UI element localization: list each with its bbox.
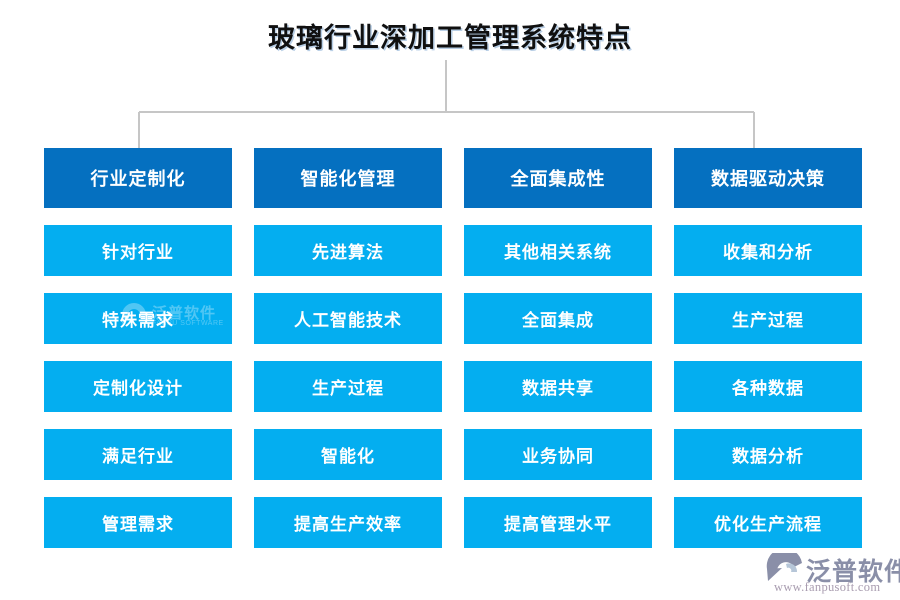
column-header-1[interactable]: 行业定制化 (44, 148, 232, 208)
column-header-3[interactable]: 全面集成性 (464, 148, 652, 208)
feature-item[interactable]: 特殊需求 (44, 293, 232, 344)
column-header-4[interactable]: 数据驱动决策 (674, 148, 862, 208)
feature-item[interactable]: 全面集成 (464, 293, 652, 344)
feature-column-2: 智能化管理 先进算法 人工智能技术 生产过程 智能化 提高生产效率 (254, 148, 442, 548)
feature-item[interactable]: 提高生产效率 (254, 497, 442, 548)
feature-item[interactable]: 生产过程 (674, 293, 862, 344)
feature-item[interactable]: 针对行业 (44, 225, 232, 276)
logo-url: www.fanpusoft.com (774, 580, 880, 595)
brand-logo: 泛普软件 www.fanpusoft.com (762, 552, 898, 596)
column-header-2[interactable]: 智能化管理 (254, 148, 442, 208)
feature-item[interactable]: 提高管理水平 (464, 497, 652, 548)
feature-grid: 行业定制化 针对行业 特殊需求 定制化设计 满足行业 管理需求 智能化管理 先进… (44, 148, 863, 548)
feature-item[interactable]: 各种数据 (674, 361, 862, 412)
feature-item[interactable]: 满足行业 (44, 429, 232, 480)
feature-item[interactable]: 优化生产流程 (674, 497, 862, 548)
feature-item[interactable]: 人工智能技术 (254, 293, 442, 344)
feature-item[interactable]: 业务协同 (464, 429, 652, 480)
fanpu-swoosh-logo-icon (764, 553, 806, 583)
feature-item[interactable]: 智能化 (254, 429, 442, 480)
feature-item[interactable]: 数据分析 (674, 429, 862, 480)
feature-column-3: 全面集成性 其他相关系统 全面集成 数据共享 业务协同 提高管理水平 (464, 148, 652, 548)
feature-item[interactable]: 先进算法 (254, 225, 442, 276)
feature-item[interactable]: 数据共享 (464, 361, 652, 412)
feature-item[interactable]: 管理需求 (44, 497, 232, 548)
feature-item[interactable]: 其他相关系统 (464, 225, 652, 276)
feature-item[interactable]: 生产过程 (254, 361, 442, 412)
feature-column-1: 行业定制化 针对行业 特殊需求 定制化设计 满足行业 管理需求 (44, 148, 232, 548)
page-title: 玻璃行业深加工管理系统特点 (0, 16, 900, 55)
feature-item[interactable]: 定制化设计 (44, 361, 232, 412)
feature-item[interactable]: 收集和分析 (674, 225, 862, 276)
feature-column-4: 数据驱动决策 收集和分析 生产过程 各种数据 数据分析 优化生产流程 (674, 148, 862, 548)
